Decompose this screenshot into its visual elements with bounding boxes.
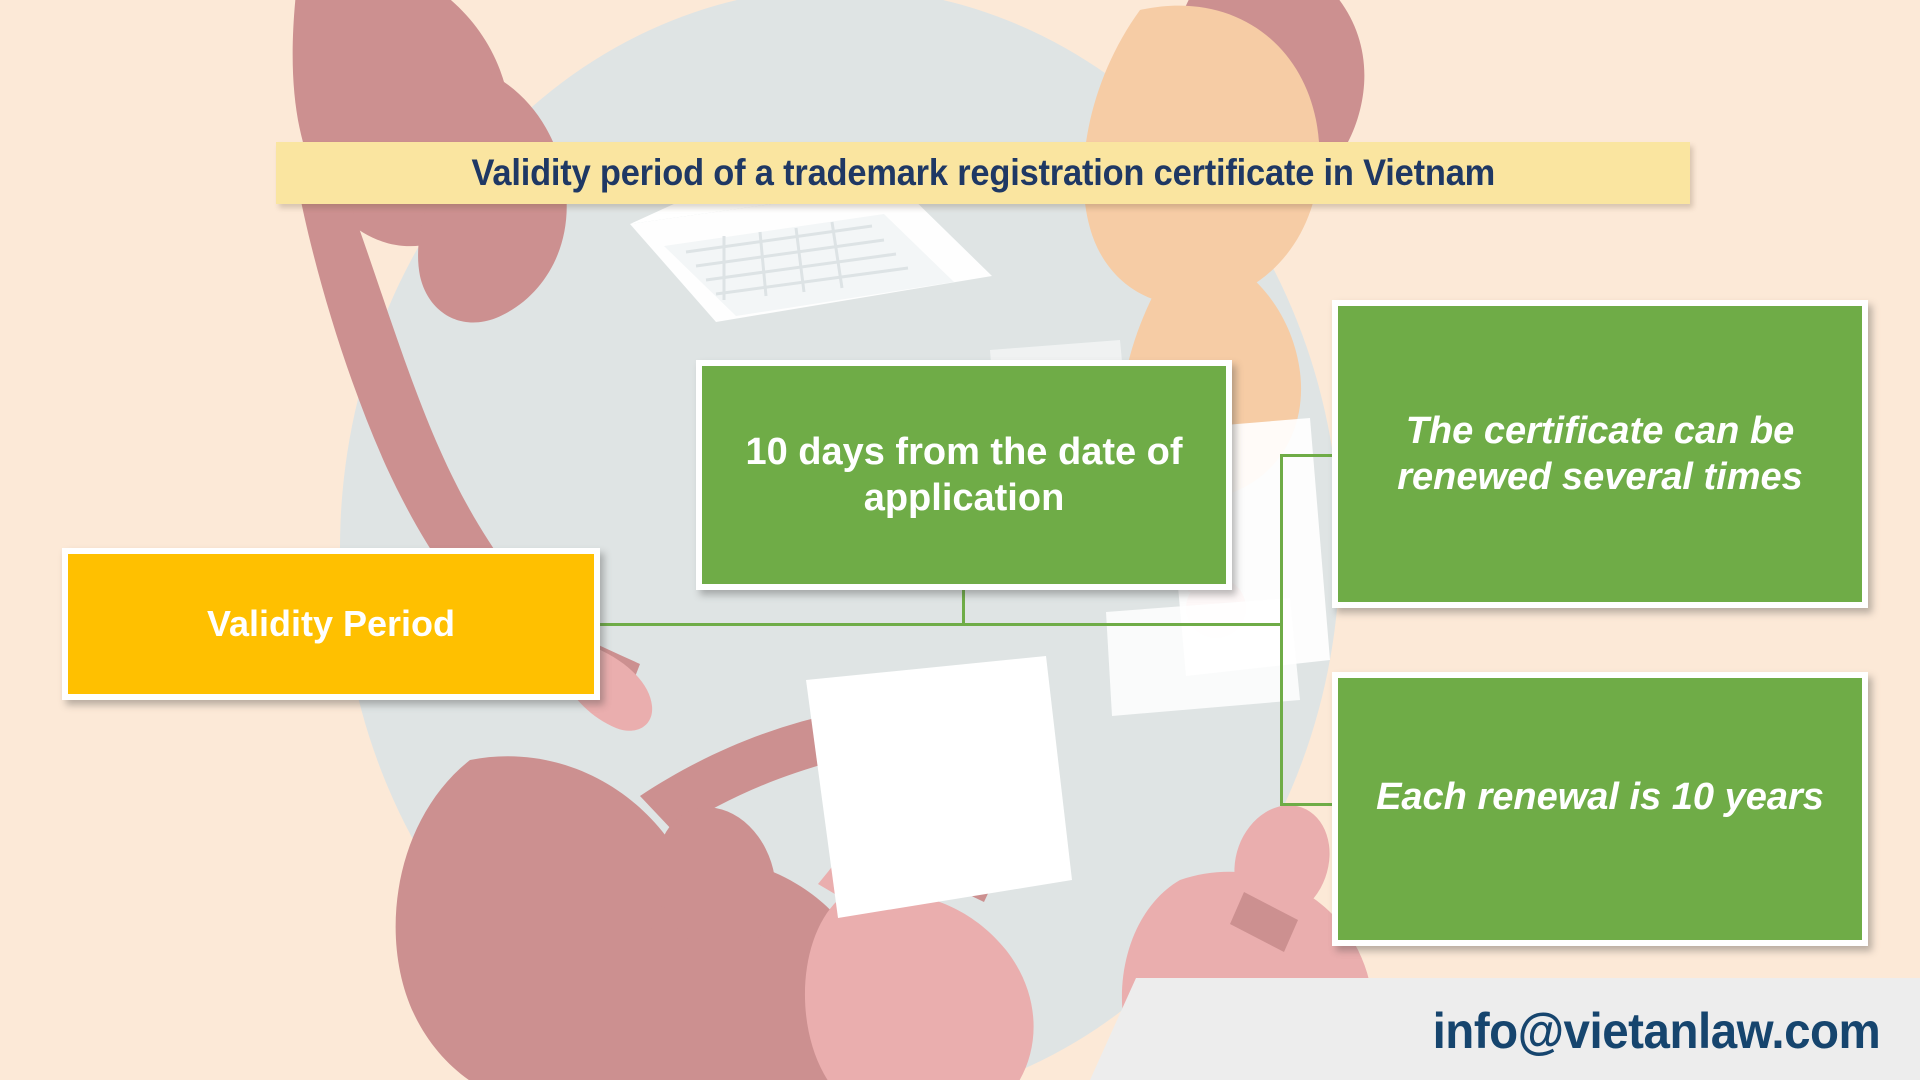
node-validity-period[interactable]: Validity Period: [62, 548, 600, 700]
node-renewal-term-label: Each renewal is 10 years: [1358, 774, 1842, 820]
contact-email[interactable]: info@vietanlaw.com: [1432, 1002, 1880, 1060]
node-renewal-term[interactable]: Each renewal is 10 years: [1332, 672, 1868, 946]
connector-bracket-vertical: [1280, 454, 1283, 806]
connector-stub-term: [1280, 803, 1334, 806]
slide-canvas: Validity period of a trademark registrat…: [0, 0, 1920, 1080]
node-ten-days-label: 10 days from the date of application: [702, 429, 1226, 522]
connector-vertical-days: [962, 590, 965, 625]
connector-stub-renewable: [1280, 454, 1334, 457]
node-ten-days[interactable]: 10 days from the date of application: [696, 360, 1232, 590]
node-renewable-label: The certificate can be renewed several t…: [1338, 408, 1862, 501]
node-validity-period-label: Validity Period: [189, 602, 473, 646]
connector-horizontal-main: [600, 623, 1282, 626]
node-renewable[interactable]: The certificate can be renewed several t…: [1332, 300, 1868, 608]
